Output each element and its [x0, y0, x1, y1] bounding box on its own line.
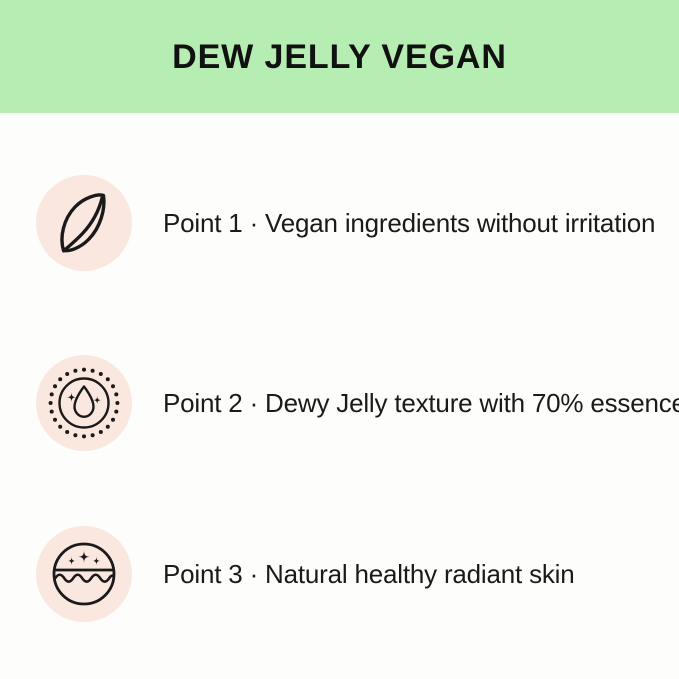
leaf-icon-badge [36, 175, 132, 271]
page-title: DEW JELLY VEGAN [172, 40, 507, 74]
list-item-label: Point 1 · Vegan ingredients without irri… [163, 209, 655, 238]
product-feature-card: DEW JELLY VEGAN Point 1 · Vegan ingredie… [0, 0, 679, 679]
list-item: Point 3 · Natural healthy radiant skin [36, 526, 666, 622]
list-item: Point 1 · Vegan ingredients without irri… [36, 175, 666, 271]
radiant-skin-icon [52, 542, 116, 606]
feature-points-list: Point 1 · Vegan ingredients without irri… [0, 113, 679, 679]
list-item: Point 2 · Dewy Jelly texture with 70% es… [36, 355, 666, 451]
list-item-label: Point 3 · Natural healthy radiant skin [163, 560, 575, 589]
leaf-icon [53, 189, 115, 257]
header-banner: DEW JELLY VEGAN [0, 0, 679, 113]
water-droplet-sparkle-icon-badge [36, 355, 132, 451]
water-droplet-sparkle-icon [48, 367, 120, 439]
list-item-label: Point 2 · Dewy Jelly texture with 70% es… [163, 389, 679, 418]
radiant-skin-icon-badge [36, 526, 132, 622]
